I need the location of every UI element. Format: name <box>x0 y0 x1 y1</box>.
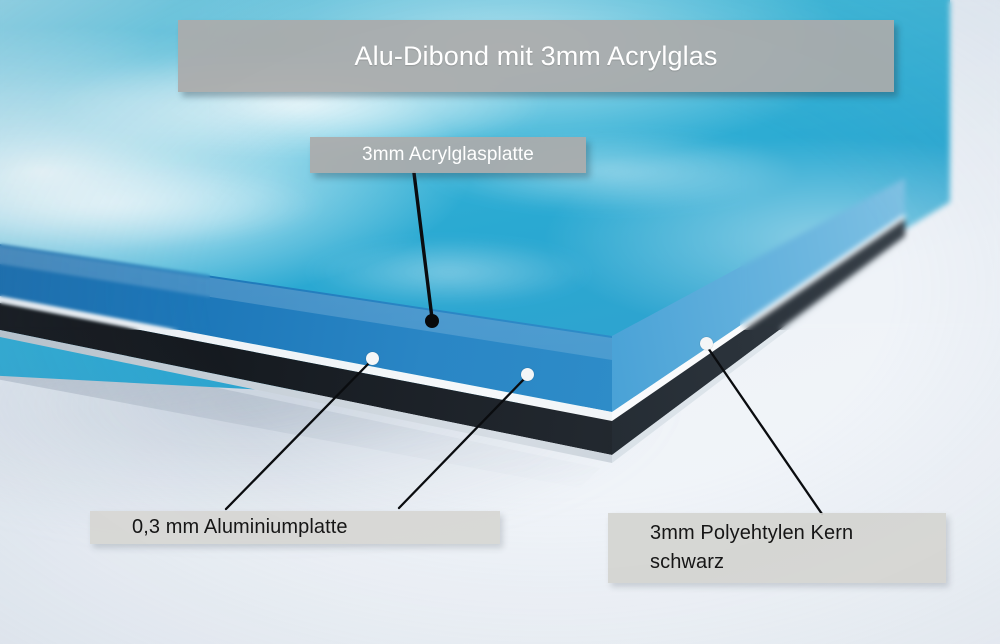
callout-aluminium-label: 0,3 mm Aluminiumplatte <box>132 516 348 539</box>
product-illustration: Alu-Dibond mit 3mm Acrylglas 3mm Acrylgl… <box>0 0 1000 644</box>
callout-polyethylen-label-line1: 3mm Polyehtylen Kern <box>650 519 853 548</box>
callout-acrylglas: 3mm Acrylglasplatte <box>310 137 586 173</box>
callout-polyethylen: 3mm Polyehtylen Kern schwarz <box>608 513 946 583</box>
callout-aluminium: 0,3 mm Aluminiumplatte <box>90 511 500 544</box>
title-banner-text: Alu-Dibond mit 3mm Acrylglas <box>355 41 718 72</box>
callout-polyethylen-label-line2: schwarz <box>650 548 724 577</box>
title-banner: Alu-Dibond mit 3mm Acrylglas <box>178 20 894 92</box>
marker-dot-acrylglas <box>425 314 439 328</box>
callout-acrylglas-label: 3mm Acrylglasplatte <box>362 144 534 166</box>
marker-dot-aluminium-right <box>521 368 534 381</box>
marker-dot-polyethylen <box>700 337 713 350</box>
marker-dot-aluminium-left <box>366 352 379 365</box>
